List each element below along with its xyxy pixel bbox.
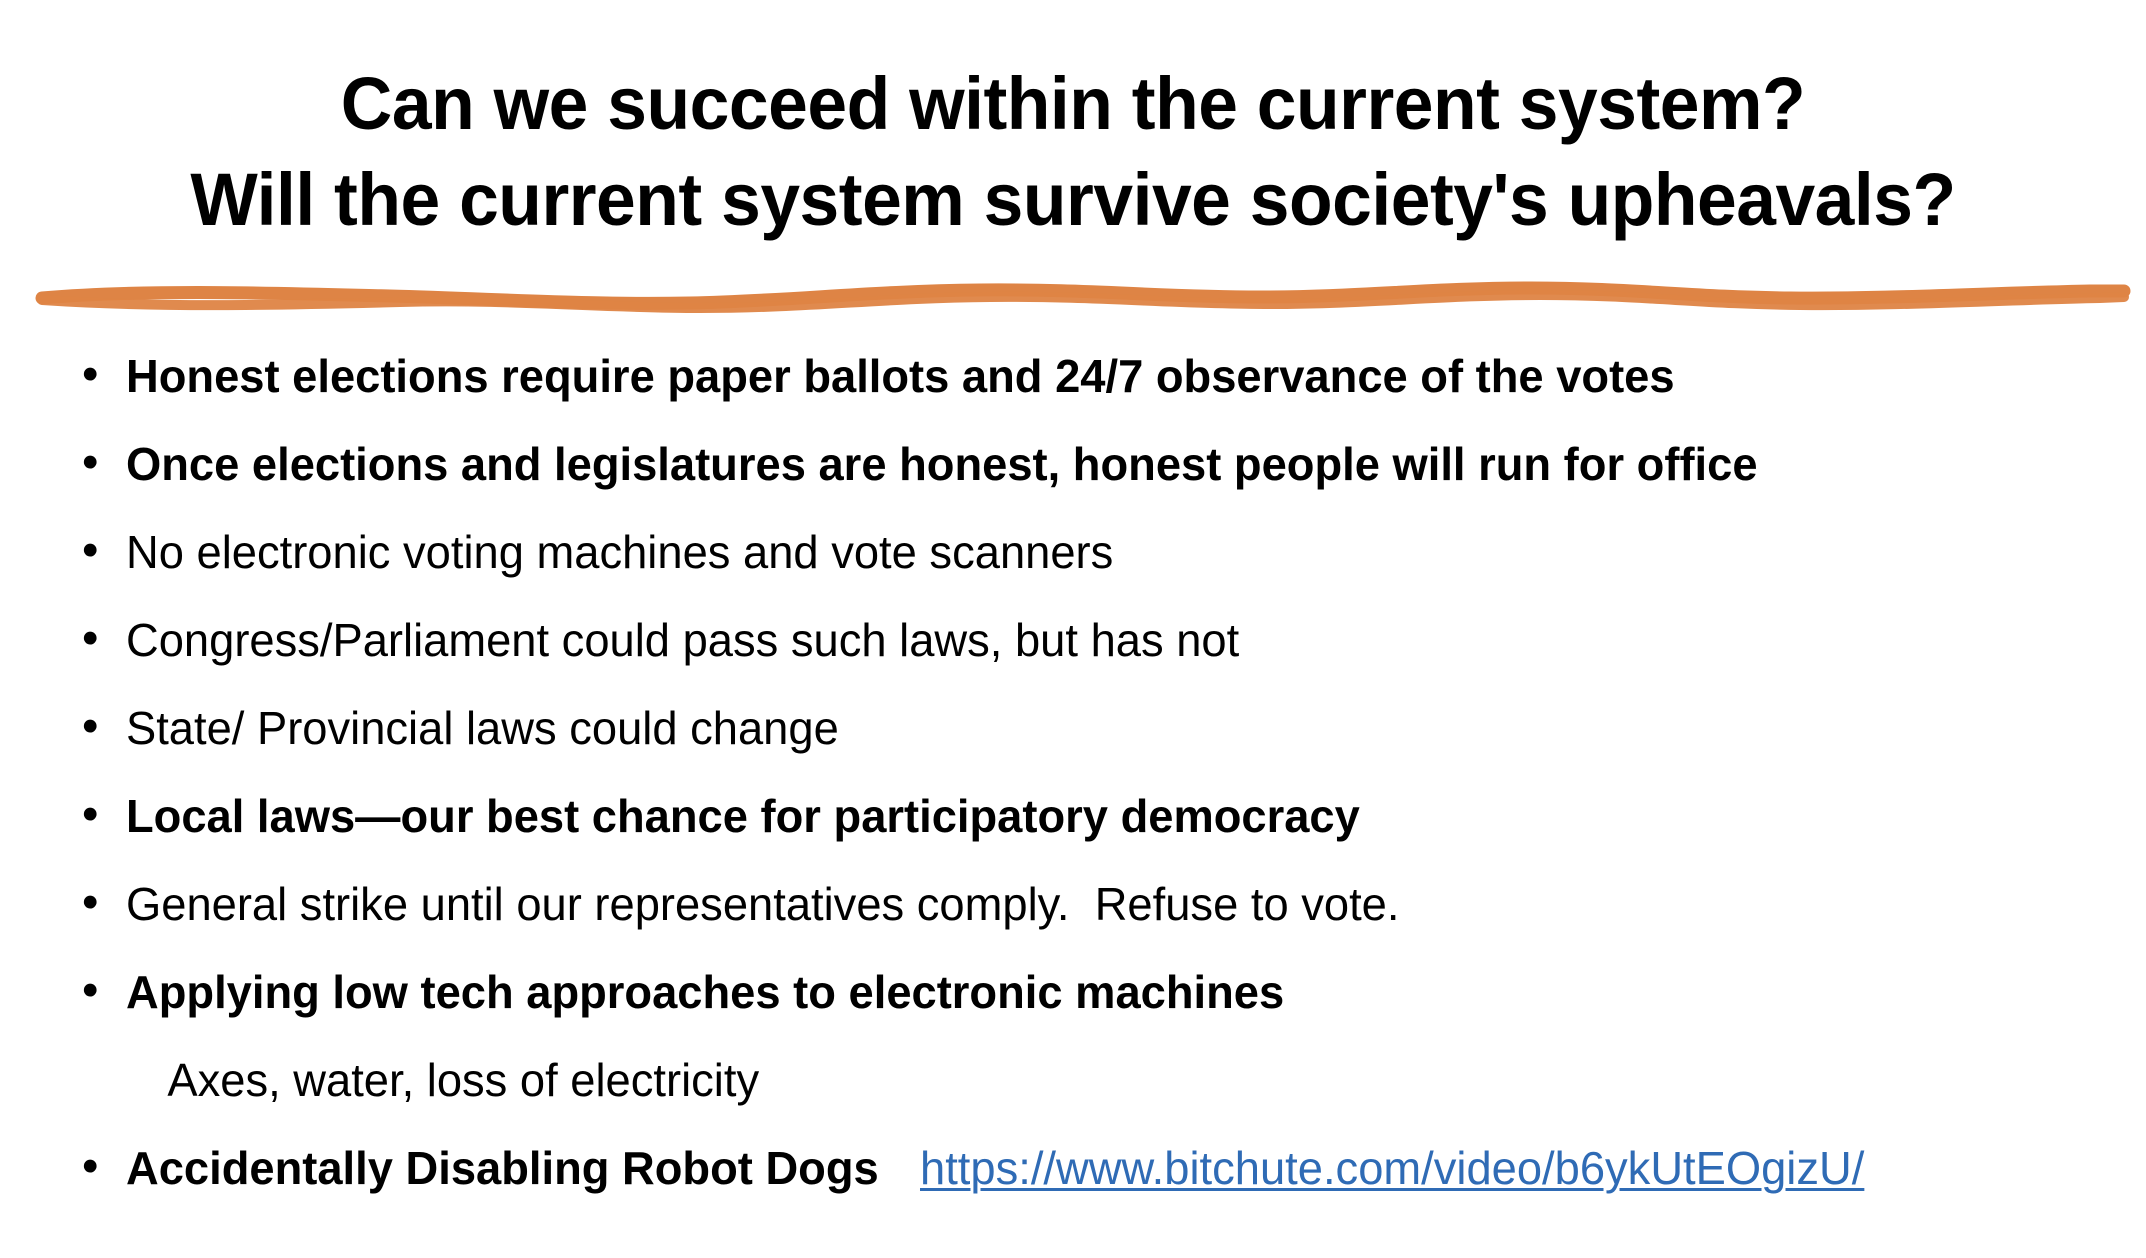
list-item-label: Honest elections require paper ballots a…	[126, 348, 2082, 404]
list-item-label: General strike until our representatives…	[126, 876, 2082, 932]
list-item: • Congress/Parliament could pass such la…	[82, 612, 2112, 700]
list-item: • Once elections and legislatures are ho…	[82, 436, 2112, 524]
list-item-label: Congress/Parliament could pass such laws…	[126, 612, 2082, 668]
bullet-icon: •	[82, 526, 126, 573]
list-item: • Applying low tech approaches to electr…	[82, 964, 2112, 1052]
bullet-icon: •	[82, 878, 126, 925]
title-line-2: Will the current system survive society'…	[38, 152, 2109, 248]
list-item-sub-label: Axes, water, loss of electricity	[126, 1052, 2082, 1108]
page-title: Can we succeed within the current system…	[0, 56, 2146, 248]
list-item-label: Applying low tech approaches to electron…	[126, 964, 2082, 1020]
list-item: • Accidentally Disabling Robot Dogs http…	[82, 1140, 2112, 1228]
orange-wavy-divider	[30, 272, 2136, 316]
slide-canvas: Can we succeed within the current system…	[0, 0, 2146, 1258]
list-item: • General strike until our representativ…	[82, 876, 2112, 964]
bullet-icon: •	[82, 702, 126, 749]
title-line-1: Can we succeed within the current system…	[38, 56, 2109, 152]
list-item-label: Once elections and legislatures are hone…	[126, 436, 2082, 492]
bullet-icon: •	[82, 790, 126, 837]
bullet-icon: •	[82, 966, 126, 1013]
list-item-label: Local laws—our best chance for participa…	[126, 788, 2082, 844]
list-item-label: Accidentally Disabling Robot Dogs	[126, 1140, 879, 1196]
bullet-icon: •	[82, 350, 126, 397]
bitchute-video-link[interactable]: https://www.bitchute.com/video/b6ykUtEOg…	[920, 1140, 1864, 1196]
list-item: • No electronic voting machines and vote…	[82, 524, 2112, 612]
list-item-sub: • Axes, water, loss of electricity	[82, 1052, 2112, 1140]
list-item: • Honest elections require paper ballots…	[82, 348, 2112, 436]
bullet-icon: •	[82, 1142, 126, 1189]
bullet-icon: •	[82, 438, 126, 485]
bullet-list: • Honest elections require paper ballots…	[82, 348, 2112, 1228]
list-item: • Local laws—our best chance for partici…	[82, 788, 2112, 876]
list-item-label: State/ Provincial laws could change	[126, 700, 2082, 756]
bullet-icon: •	[82, 614, 126, 661]
list-item-label: No electronic voting machines and vote s…	[126, 524, 2082, 580]
list-item: • State/ Provincial laws could change	[82, 700, 2112, 788]
